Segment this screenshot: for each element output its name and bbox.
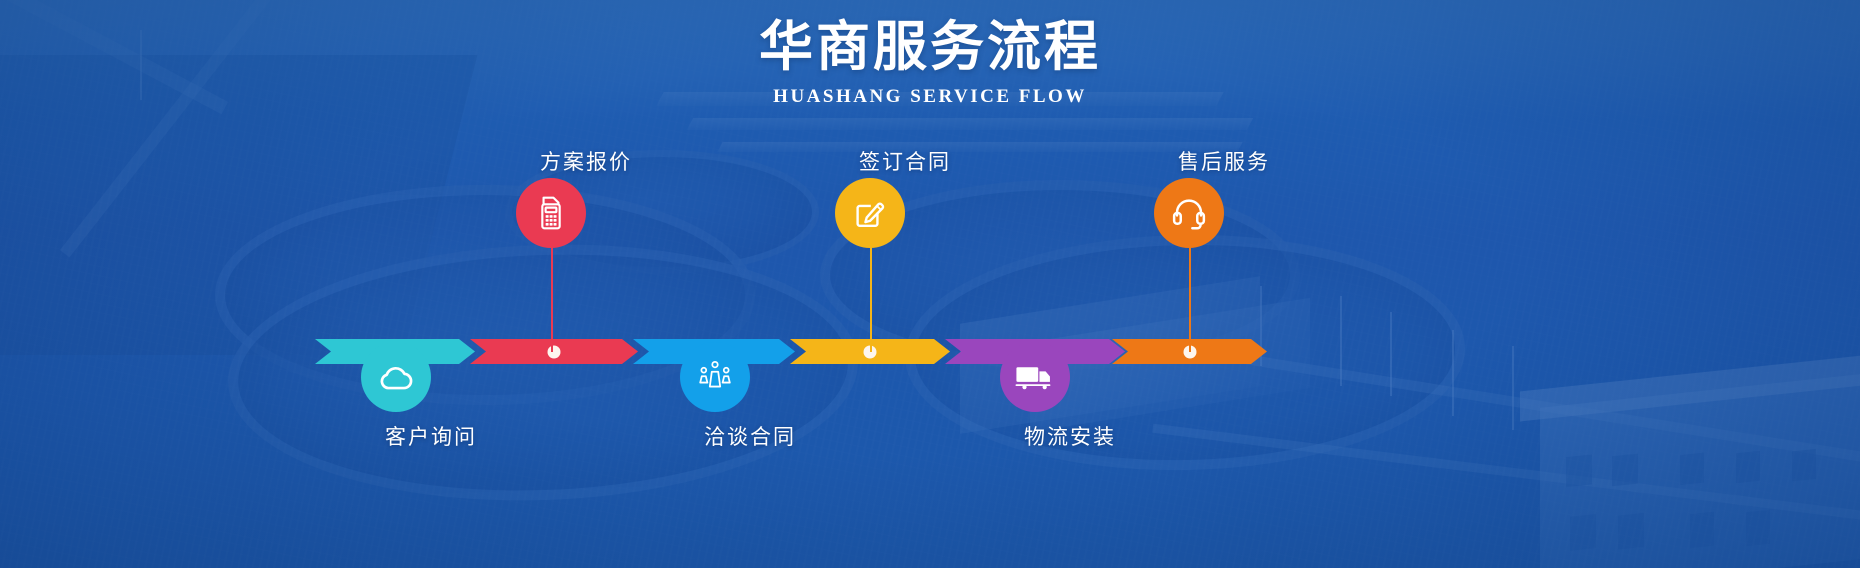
- page-subtitle: HUASHANG SERVICE FLOW: [0, 86, 1860, 108]
- banner-heading: 华商服务流程 HUASHANG SERVICE FLOW: [0, 16, 1860, 108]
- flow-step-1-label: 客户询问: [301, 421, 561, 451]
- service-flow-banner: 华商服务流程 HUASHANG SERVICE FLOW: [0, 0, 1860, 568]
- flow-step-4-label: 签订合同: [775, 146, 1035, 176]
- flow-step-5-label: 物流安装: [940, 421, 1200, 451]
- stem-step-4: [870, 240, 872, 352]
- flow-step-6-circle[interactable]: [1154, 178, 1224, 248]
- flow-step-5-circle[interactable]: [1000, 342, 1070, 412]
- flow-bar-dot: [548, 345, 561, 358]
- flow-step-2-circle[interactable]: [516, 178, 586, 248]
- page-title: 华商服务流程: [0, 16, 1860, 78]
- flow-step-4-circle[interactable]: [835, 178, 905, 248]
- flow-step-1-circle[interactable]: [361, 342, 431, 412]
- flow-bar-step-2[interactable]: [470, 339, 638, 364]
- flow-step-3-circle[interactable]: [680, 342, 750, 412]
- delivery-truck-icon: [1014, 360, 1056, 394]
- headset-support-icon: [1170, 194, 1208, 232]
- sign-contract-pen-icon: [851, 194, 889, 232]
- flow-step-3-label: 洽谈合同: [620, 421, 880, 451]
- flow-step-6-label: 售后服务: [1094, 146, 1354, 176]
- flow-step-2-label: 方案报价: [456, 146, 716, 176]
- negotiation-meeting-icon: [695, 358, 735, 396]
- stem-step-6: [1189, 240, 1191, 352]
- invoice-calculator-icon: [534, 194, 568, 232]
- stem-step-2: [551, 240, 553, 352]
- cloud-icon: [377, 358, 415, 396]
